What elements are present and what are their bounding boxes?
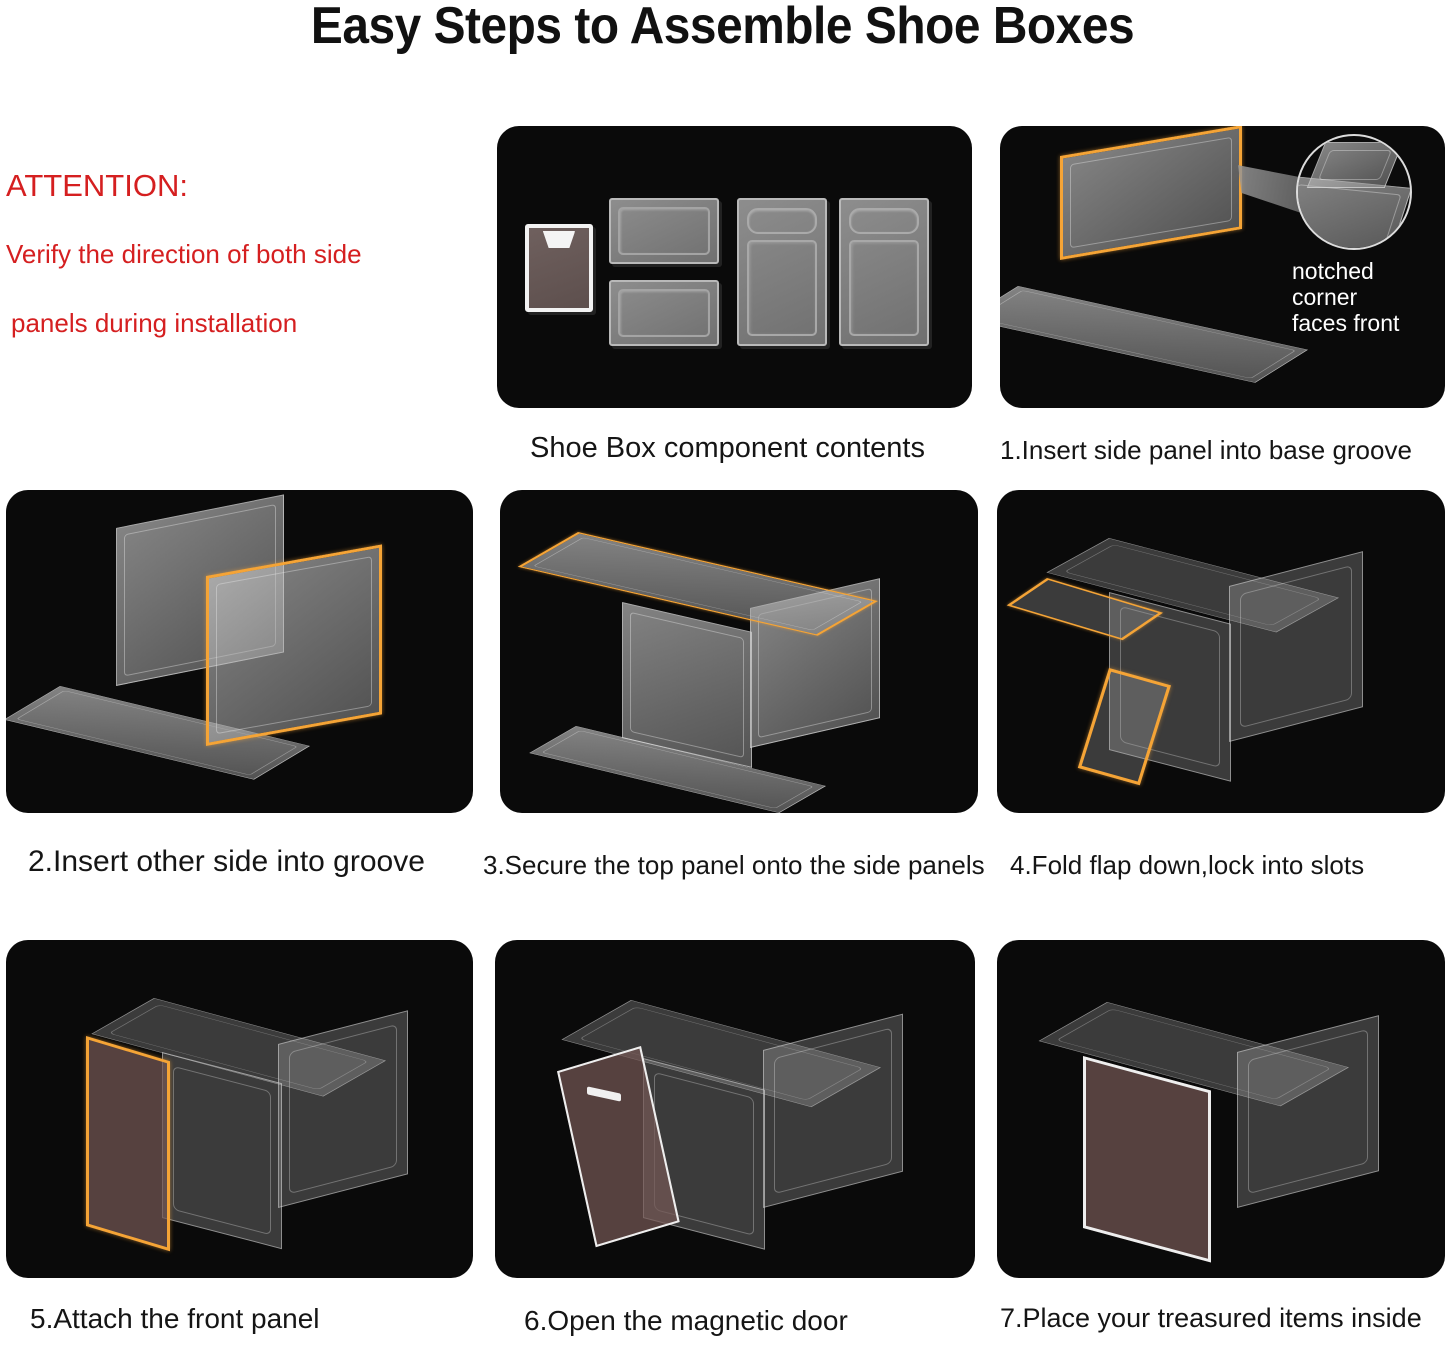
- panel-step-4: [997, 490, 1445, 813]
- top-panel-inset: [618, 207, 710, 255]
- attach-arrow-2: [178, 1136, 226, 1172]
- page-title: Easy Steps to Assemble Shoe Boxes: [58, 0, 1387, 56]
- insert-arrow-2: [1192, 184, 1226, 230]
- flap-lower: [1078, 668, 1171, 785]
- step-2-scene: [6, 490, 473, 813]
- step-7-scene: [997, 940, 1445, 1278]
- step-4-scene: [997, 490, 1445, 813]
- front-door-closed[interactable]: [1083, 1056, 1211, 1263]
- side-panel-right-strip: [849, 208, 919, 234]
- attention-line-2: panels during installation: [6, 309, 486, 338]
- part-side-panel-left: [737, 198, 827, 346]
- panel-step-1: notched corner faces front: [1000, 126, 1445, 408]
- secure-arrow-2: [750, 532, 784, 578]
- step-5-scene: [6, 940, 473, 1278]
- notched-corner-callout: notched corner faces front: [1292, 259, 1445, 336]
- step-3-scene: [500, 490, 978, 813]
- attach-arrow-1: [218, 1022, 266, 1058]
- insert-arrow-2: [326, 630, 360, 676]
- panel-step-3: [500, 490, 978, 813]
- side-panel-left-inset: [747, 240, 817, 336]
- panel-step-5: [6, 940, 473, 1278]
- part-top-panel: [609, 198, 719, 264]
- panel-step-6: [495, 940, 975, 1278]
- panel-step-7: [997, 940, 1445, 1278]
- caption-step-4: 4.Fold flap down,lock into slots: [1010, 850, 1364, 881]
- part-base-panel: [609, 280, 719, 346]
- secure-arrow-1: [686, 542, 720, 588]
- front-door-panel-attaching: [86, 1036, 170, 1251]
- caption-step-3: 3.Secure the top panel onto the side pan…: [483, 850, 985, 881]
- part-side-panel-right: [839, 198, 929, 346]
- attention-line-1: Verify the direction of both side: [6, 240, 486, 269]
- base-panel-inset: [618, 289, 710, 337]
- components-scene: [497, 126, 972, 408]
- caption-step-2: 2.Insert other side into groove: [28, 845, 425, 879]
- side-panel-right-inset: [849, 240, 919, 336]
- insert-arrow-1: [251, 648, 285, 694]
- door-notch-handle: [543, 231, 575, 248]
- base-plate: [1000, 286, 1308, 383]
- attention-block: ATTENTION: Verify the direction of both …: [6, 168, 486, 337]
- magnifier-circle: [1296, 134, 1412, 250]
- step-6-scene: [495, 940, 975, 1278]
- side-panel-left-strip: [747, 208, 817, 234]
- attention-heading: ATTENTION:: [6, 168, 486, 204]
- caption-components: Shoe Box component contents: [530, 432, 925, 465]
- caption-step-7: 7.Place your treasured items inside: [1000, 1303, 1422, 1334]
- panel-components: [497, 126, 972, 408]
- caption-step-6: 6.Open the magnetic door: [524, 1305, 848, 1337]
- box-right-face: [278, 1010, 408, 1208]
- box-right-face: [1229, 551, 1363, 742]
- step-1-scene: notched corner faces front: [1000, 126, 1445, 408]
- magnified-corner-edge: [1307, 142, 1404, 188]
- insert-arrow-1: [1112, 198, 1146, 244]
- caption-step-1: 1.Insert side panel into base groove: [1000, 435, 1412, 466]
- part-front-door-panel: [525, 224, 593, 312]
- caption-step-5: 5.Attach the front panel: [30, 1303, 320, 1335]
- panel-step-2: [6, 490, 473, 813]
